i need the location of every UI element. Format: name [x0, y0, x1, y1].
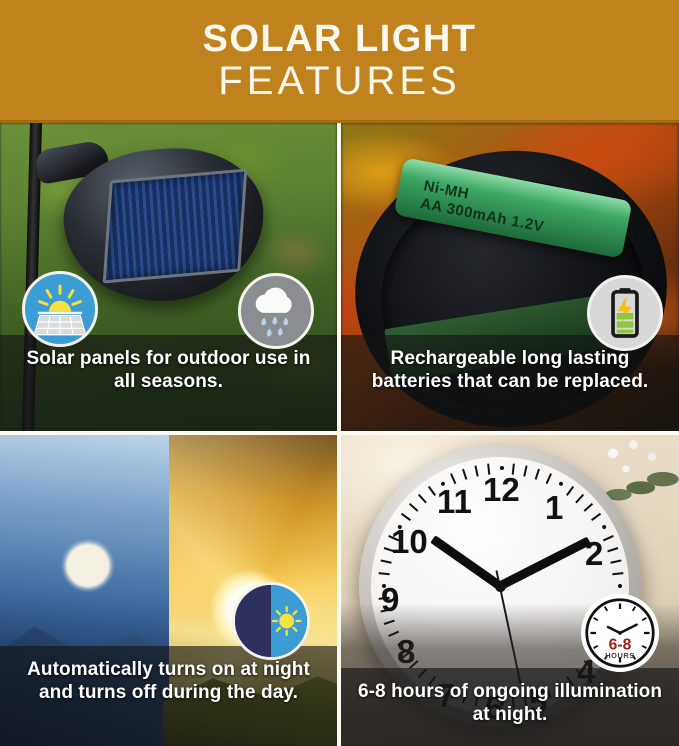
feature-panel-solar-panels: Solar panels for outdoor use in all seas… [0, 123, 337, 431]
clock-minute-tick [487, 464, 490, 475]
clock-tick [618, 584, 622, 588]
charging-battery-badge-icon [587, 275, 663, 351]
clock-minute-tick [428, 486, 436, 496]
clock-hours-badge-icon: 6-8 HOURS [581, 594, 659, 672]
feature-panel-auto-on-off: Automatically turns on at night and turn… [0, 435, 337, 746]
clock-numeral-10: 10 [391, 523, 428, 561]
clock-minute-tick [474, 465, 478, 476]
feature-panel-runtime-hours: 12 1 2 3 4 5 6 7 8 9 10 11 [341, 435, 679, 746]
clock-minute-tick [401, 513, 411, 521]
clock-numeral-11: 11 [437, 483, 472, 521]
day-night-badge-icon [232, 582, 310, 660]
solar-panel-badge-icon [22, 271, 98, 347]
page-title-line1: SOLAR LIGHT [202, 20, 476, 58]
clock-tick [558, 481, 563, 486]
rain-cloud-badge-icon [238, 273, 314, 349]
clock-minute-tick [575, 494, 584, 504]
clock-minute-tick [610, 559, 621, 563]
clock-minute-tick [523, 465, 527, 476]
page-title-line2: FEATURES [218, 60, 460, 102]
clock-minute-tick [607, 547, 618, 552]
clock-minute-hand [494, 537, 591, 592]
clock-minute-tick [418, 494, 427, 504]
clock-pivot [495, 581, 506, 592]
infographic-page: SOLAR LIGHT FEATURES [0, 0, 679, 746]
feature-grid: Solar panels for outdoor use in all seas… [0, 123, 679, 746]
panel-caption: Solar panels for outdoor use in all seas… [0, 335, 337, 431]
clock-minute-tick [591, 513, 601, 521]
clock-tick [382, 584, 386, 588]
clock-minute-tick [535, 469, 540, 480]
clock-minute-tick [612, 572, 623, 575]
clock-minute-tick [409, 503, 419, 512]
panel-caption: Automatically turns on at night and turn… [0, 646, 337, 746]
badge-hours-unit: HOURS [605, 651, 634, 660]
clock-tick [601, 524, 606, 529]
panel-caption: 6-8 hours of ongoing illumination at nig… [341, 668, 679, 746]
clock-minute-tick [546, 473, 552, 484]
clock-minute-tick [603, 535, 614, 541]
clock-minute-tick [462, 469, 467, 480]
clock-numeral-12: 12 [483, 471, 520, 509]
clock-numeral-1: 1 [545, 489, 563, 527]
clock-minute-tick [380, 559, 391, 563]
clock-minute-tick [584, 503, 594, 512]
horizontal-divider [0, 431, 679, 435]
clock-tick [500, 466, 504, 470]
photovoltaic-cell [103, 168, 248, 283]
clock-minute-tick [566, 486, 574, 496]
clock-minute-tick [379, 572, 390, 575]
header-banner: SOLAR LIGHT FEATURES [0, 0, 679, 122]
feature-panel-rechargeable-batteries: Ni-MH AA 300mAh 1.2V Rechargeable long l… [341, 123, 679, 431]
